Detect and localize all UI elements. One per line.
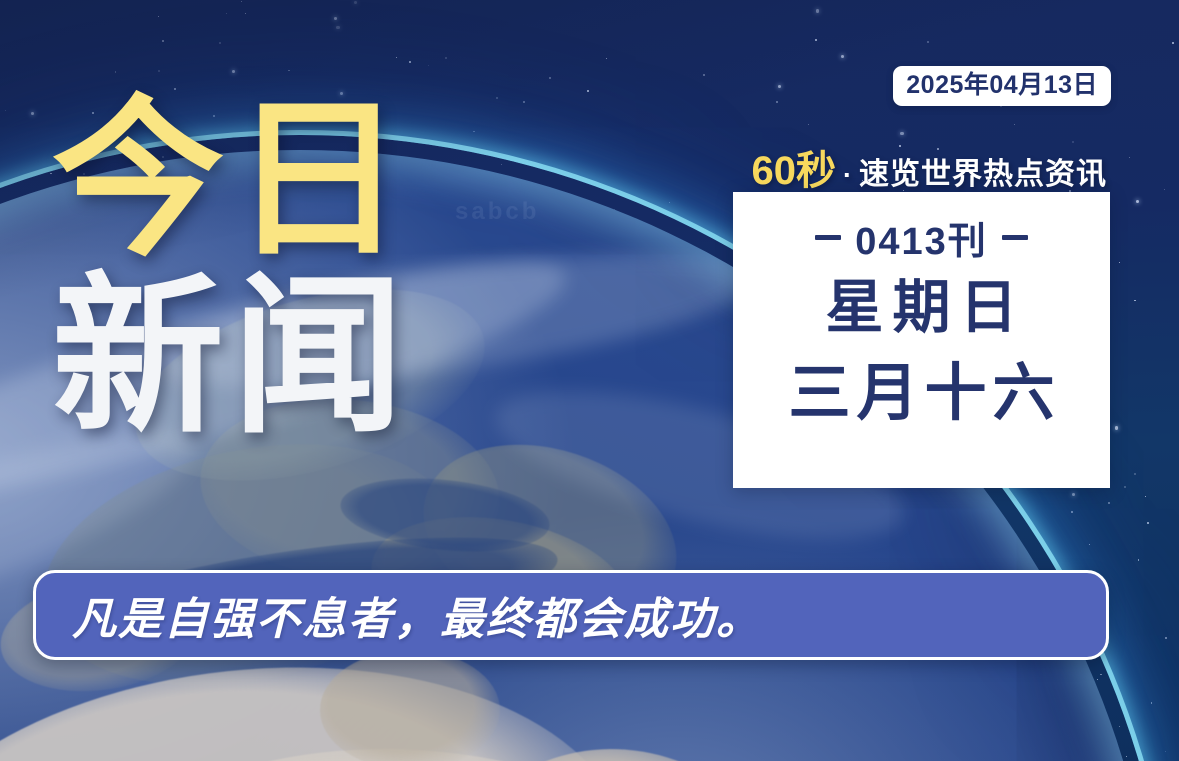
dash-right-icon <box>1002 235 1028 240</box>
earth-landmass <box>320 650 500 761</box>
title-line-xinwen: 新闻 <box>52 273 412 442</box>
issue-number-row: 0413刊 <box>815 210 1028 265</box>
page-title: 今日 新闻 <box>52 96 412 441</box>
quote-banner: 凡是自强不息者，最终都会成功。 <box>33 570 1109 660</box>
tagline-seconds: 60秒 <box>752 138 837 196</box>
issue-info-card: 0413刊 星期日 三月十六 <box>733 192 1110 488</box>
tagline-separator-dot: · <box>840 160 855 191</box>
date-badge: 2025年04月13日 <box>893 66 1111 106</box>
issue-number-label: 0413刊 <box>855 210 988 265</box>
quote-text: 凡是自强不息者，最终都会成功。 <box>36 583 762 647</box>
dash-left-icon <box>815 235 841 240</box>
lunar-date-label: 三月十六 <box>782 363 1060 425</box>
tagline-subtitle: 速览世界热点资讯 <box>859 149 1107 193</box>
title-line-jinri: 今日 <box>52 96 412 265</box>
tagline: 60秒 · 速览世界热点资讯 <box>752 138 1108 196</box>
weekday-label: 星期日 <box>816 279 1026 337</box>
news-poster: sabcb 今日 新闻 2025年04月13日 60秒 · 速览世界热点资讯 0… <box>0 0 1179 761</box>
